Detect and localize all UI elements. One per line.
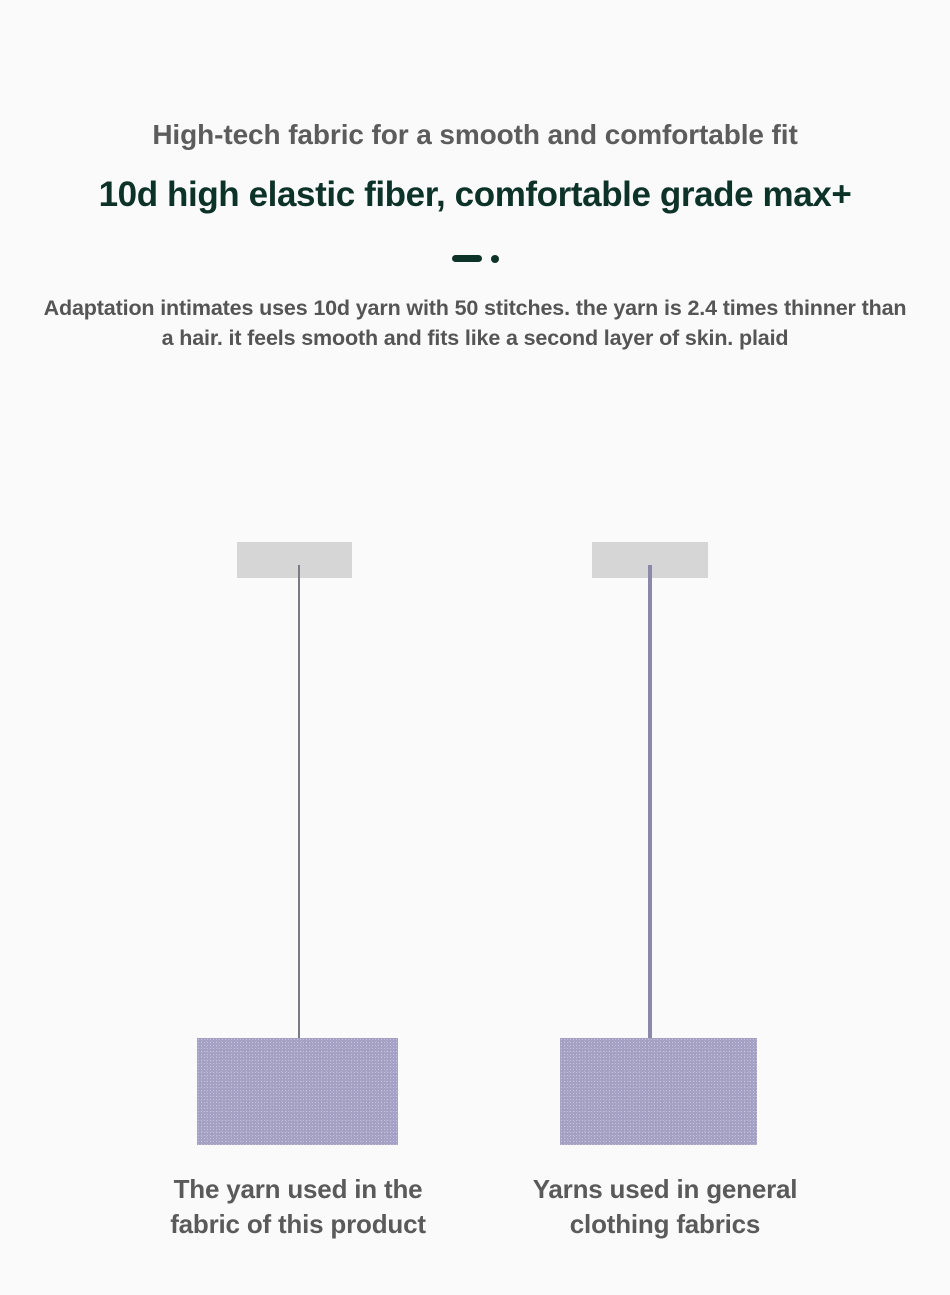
caption-left: The yarn used in the fabric of this prod… — [118, 1172, 478, 1242]
fabric-weight-block-right — [560, 1038, 757, 1145]
fabric-weight-block-left — [197, 1038, 398, 1145]
caption-left-line-1: The yarn used in the — [118, 1172, 478, 1207]
caption-left-line-2: fabric of this product — [118, 1207, 478, 1242]
caption-right: Yarns used in general clothing fabrics — [478, 1172, 852, 1242]
yarn-comparison-diagram: The yarn used in the fabric of this prod… — [0, 0, 950, 1295]
clamp-block-left — [237, 542, 352, 578]
product-feature-page: High-tech fabric for a smooth and comfor… — [0, 0, 950, 1295]
yarn-thread-left — [298, 565, 300, 1040]
caption-right-line-1: Yarns used in general — [478, 1172, 852, 1207]
caption-right-line-2: clothing fabrics — [478, 1207, 852, 1242]
yarn-thread-right — [648, 565, 652, 1040]
